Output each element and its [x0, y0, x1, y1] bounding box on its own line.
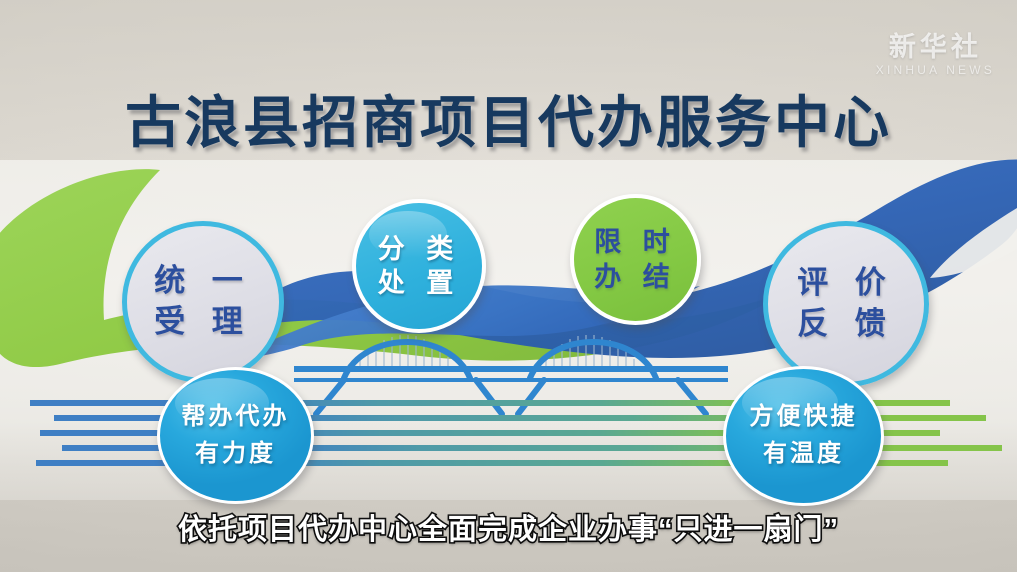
bubble-line-2: 办 结: [594, 262, 677, 292]
bubble-line-2: 有力度: [195, 441, 276, 468]
bubble-bangban-daiban: 帮办代办 有力度: [157, 367, 314, 504]
bubble-line-1: 帮办代办: [182, 404, 290, 431]
bubble-fangbian-kuaijie: 方便快捷 有温度: [723, 366, 884, 506]
bubble-line-1: 评 价: [797, 266, 895, 301]
bubble-line-1: 方便快捷: [750, 404, 858, 431]
bubble-xianshi-banjie: 限 时 办 结: [570, 194, 701, 325]
bubble-pingjia-fankui: 评 价 反 馈: [763, 221, 929, 387]
video-caption: 依托项目代办中心全面完成企业办事“只进一扇门”: [0, 506, 1017, 548]
bubble-line-2: 受 理: [154, 305, 252, 340]
bubble-line-2: 反 馈: [797, 307, 895, 342]
bubble-fenlei-chuzhi: 分 类 处 置: [352, 199, 486, 333]
screenshot-frame: 古浪县招商项目代办服务中心 新华社 XINHUA NEWS 统 一 受 理 分 …: [0, 0, 1017, 572]
page-title: 古浪县招商项目代办服务中心: [0, 78, 1017, 159]
bubble-line-2: 有温度: [763, 441, 844, 468]
bubble-line-1: 限 时: [594, 227, 677, 257]
bubble-line-1: 统 一: [154, 264, 252, 299]
bubble-line-2: 处 置: [378, 268, 461, 298]
bubble-line-1: 分 类: [378, 234, 461, 264]
bubble-tongyi-shouli: 统 一 受 理: [122, 221, 284, 383]
